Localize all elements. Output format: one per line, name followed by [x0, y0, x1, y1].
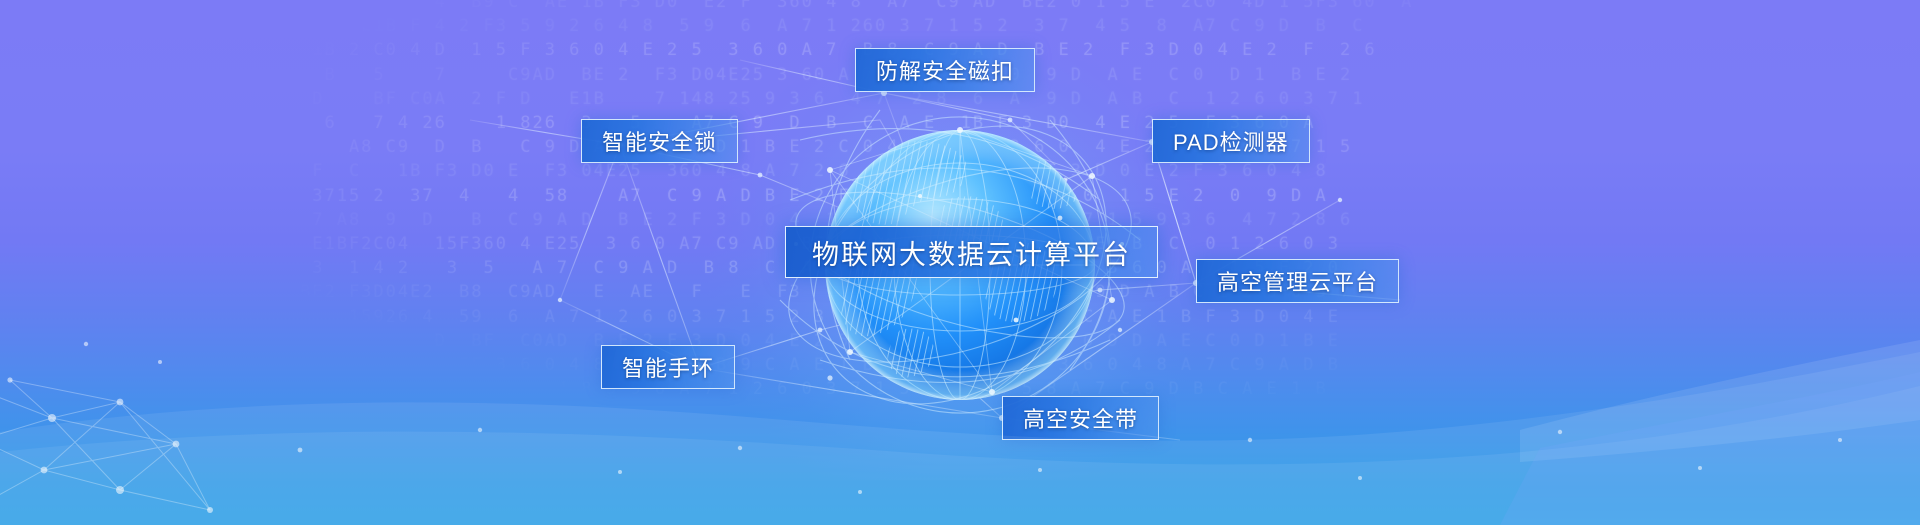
- chip-anti-theft-magnetic-buckle[interactable]: 防解安全磁扣: [855, 48, 1035, 92]
- chip-label: 高空管理云平台: [1217, 265, 1378, 297]
- chip-label: 智能安全锁: [602, 125, 717, 157]
- code-row: 7 B8 C D BF C0AD B E 2 F 3 D 0 4 E 2 5 3…: [300, 329, 1640, 353]
- chip-pad-detector[interactable]: PAD检测器: [1152, 119, 1310, 163]
- code-row: A8 C9 D B C 9 D A E C 0 D 1 B E 2 C 0 4 …: [300, 135, 1640, 159]
- iot-platform-banner: A 7 26 4 B9 C AE 1B F3 D0 E2 F 360 4 8 A…: [0, 0, 1920, 525]
- code-row: 47 15926 4 59 6 A 7 1 2 6 0 3 7 1 5 2 3 …: [300, 305, 1640, 329]
- code-row: 0 AE2BF3 14E25F 3 6 0 4 8 A 7 2 6 B 9 C …: [300, 353, 1640, 377]
- code-row: 4715936 47 5 9 2 6 4 8 5 9 6 A 7 1 2 6 0…: [300, 377, 1640, 400]
- code-row: 6 7 4 26 1 826 3 5 A7 C 9 D B C A E 1B F…: [300, 111, 1640, 135]
- code-row: BE2 F3D04E2 B8 C9AD E AE F E F3 1 5 9 3 …: [300, 280, 1640, 304]
- chip-smart-wristband[interactable]: 智能手环: [601, 345, 735, 389]
- chip-smart-security-lock[interactable]: 智能安全锁: [581, 119, 738, 163]
- chip-label: 智能手环: [622, 351, 714, 383]
- chip-center-platform[interactable]: 物联网大数据云计算平台: [785, 226, 1158, 278]
- chip-label: 高空安全带: [1023, 402, 1138, 434]
- code-row: A 7 26 4 B9 C AE 1B F3 D0 E2 F 360 4 8 A…: [300, 0, 1640, 14]
- code-row: F C 1B F3 D0 E F3 04E25 360 4 8 A 7 2 6 …: [300, 159, 1640, 183]
- chip-label: PAD检测器: [1173, 125, 1289, 157]
- code-row: 3715 2 37 4 4 58 A7 C 9 A D B E 2 F 3 D …: [300, 184, 1640, 208]
- center-label: 物联网大数据云计算平台: [812, 233, 1131, 272]
- code-row: D0 A E1B F 4 2 F3 5 9 2 6 4 8 5 9 6 A 7 …: [300, 14, 1640, 38]
- chip-aerial-safety-belt[interactable]: 高空安全带: [1002, 396, 1159, 440]
- chip-aerial-management-cloud[interactable]: 高空管理云平台: [1196, 259, 1399, 303]
- chip-label: 防解安全磁扣: [876, 54, 1014, 86]
